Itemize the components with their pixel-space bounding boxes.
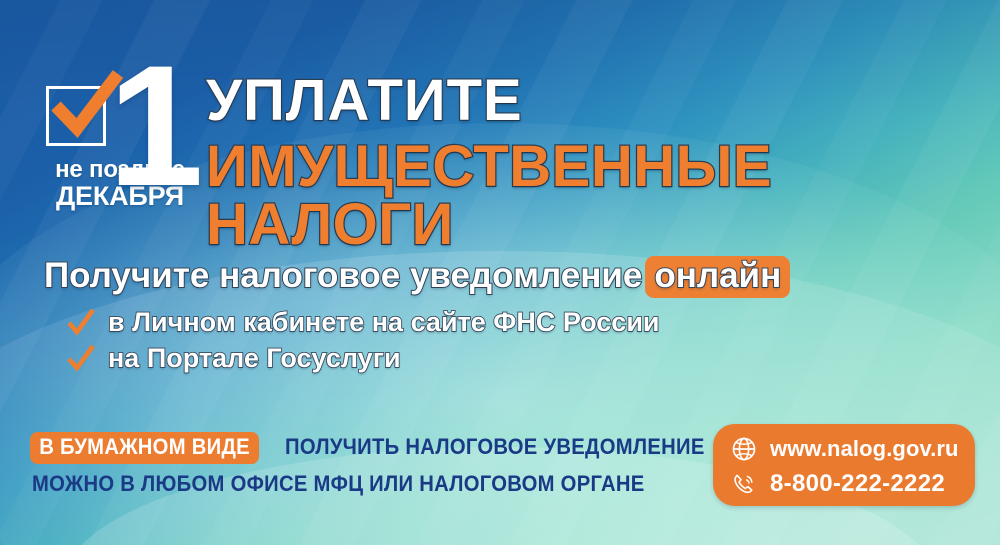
online-title-prefix: Получите налоговое уведомление	[44, 256, 642, 295]
contact-phone-row[interactable]: 8-800-222-2222	[731, 468, 975, 500]
check-icon	[66, 307, 96, 337]
checkbox-checked-icon	[46, 78, 112, 144]
list-item-label: в Личном кабинете на сайте ФНС России	[108, 306, 660, 338]
contact-phone: 8-800-222-2222	[770, 470, 945, 498]
list-item-label: на Портале Госуслуги	[108, 342, 401, 374]
paper-block: В БУМАЖНОМ ВИДЕ ПОЛУЧИТЬ НАЛОГОВОЕ УВЕДО…	[30, 432, 741, 495]
tax-notice-banner: не позднее ДЕКАБРЯ 1 УПЛАТИТЕ ИМУЩЕСТВЕН…	[0, 0, 1000, 545]
contact-website: www.nalog.gov.ru	[770, 436, 959, 462]
check-icon	[66, 343, 96, 373]
headline-line-1: УПЛАТИТЕ	[206, 72, 1000, 130]
paper-line-1-text: ПОЛУЧИТЬ НАЛОГОВОЕ УВЕДОМЛЕНИЕ	[285, 436, 705, 458]
paper-line-2-text: МОЖНО В ЛЮБОМ ОФИСЕ МФЦ ИЛИ НАЛОГОВОМ ОР…	[32, 473, 645, 495]
phone-icon	[731, 471, 757, 497]
online-channel-list: в Личном кабинете на сайте ФНС России на…	[44, 306, 790, 374]
online-title-highlight: онлайн	[645, 256, 790, 298]
headline: УПЛАТИТЕ ИМУЩЕСТВЕННЫЕ НАЛОГИ	[206, 72, 1000, 254]
contact-website-row[interactable]: www.nalog.gov.ru	[731, 433, 975, 465]
paper-line-1: В БУМАЖНОМ ВИДЕ ПОЛУЧИТЬ НАЛОГОВОЕ УВЕДО…	[30, 432, 741, 464]
headline-line-2: ИМУЩЕСТВЕННЫЕ НАЛОГИ	[206, 138, 1000, 254]
list-item[interactable]: на Портале Госуслуги	[44, 342, 790, 374]
contact-card: www.nalog.gov.ru 8-800-222-2222	[713, 424, 975, 506]
banner-content: не позднее ДЕКАБРЯ 1 УПЛАТИТЕ ИМУЩЕСТВЕН…	[0, 0, 1000, 545]
online-title: Получите налоговое уведомлениеонлайн	[44, 256, 790, 298]
list-item[interactable]: в Личном кабинете на сайте ФНС России	[44, 306, 790, 338]
online-block: Получите налоговое уведомлениеонлайн в Л…	[44, 256, 790, 377]
paper-badge: В БУМАЖНОМ ВИДЕ	[30, 432, 259, 464]
deadline-number: 1	[108, 40, 200, 212]
paper-line-2: МОЖНО В ЛЮБОМ ОФИСЕ МФЦ ИЛИ НАЛОГОВОМ ОР…	[30, 473, 741, 495]
globe-icon	[731, 436, 757, 462]
